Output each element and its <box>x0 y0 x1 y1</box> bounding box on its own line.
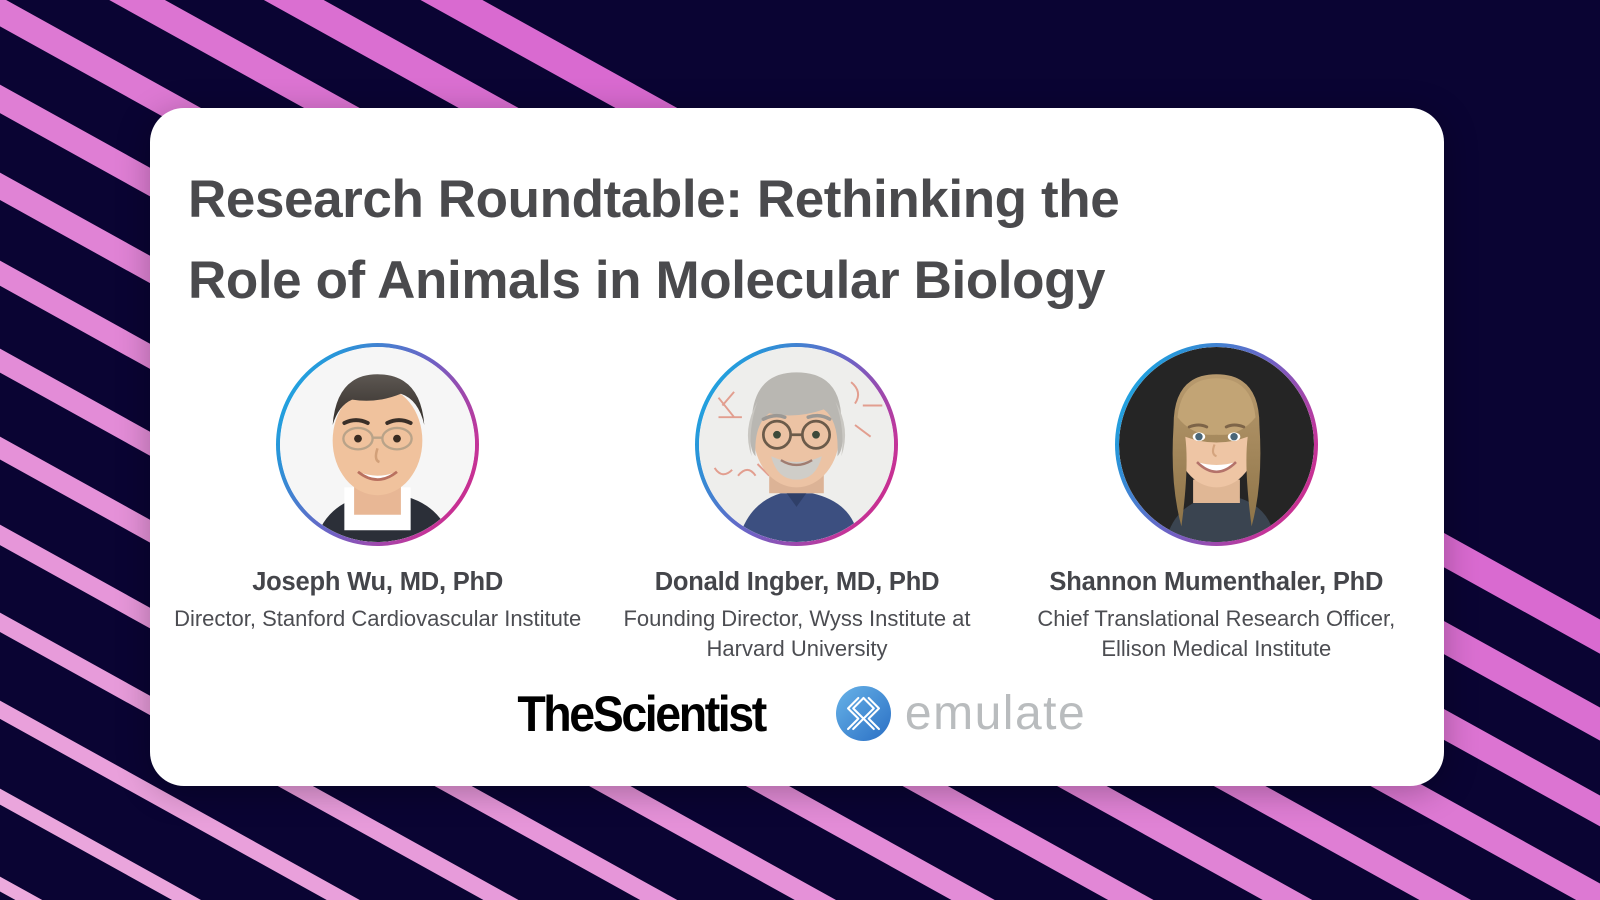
speaker-name: Donald Ingber, MD, PhD <box>655 568 940 597</box>
speaker-role: Chief Translational Research Officer, El… <box>1011 604 1421 665</box>
speaker-name: Shannon Mumenthaler, PhD <box>1049 568 1383 597</box>
emulate-logo: emulate <box>836 686 1086 741</box>
avatar <box>699 347 894 542</box>
speaker-list: Joseph Wu, MD, PhD Director, Stanford Ca… <box>150 343 1444 665</box>
emulate-mark-icon <box>836 686 891 741</box>
speaker-role: Founding Director, Wyss Institute at Har… <box>592 604 1002 665</box>
speaker-role: Director, Stanford Cardiovascular Instit… <box>174 604 581 634</box>
emulate-wordmark: emulate <box>905 686 1086 741</box>
speaker-card: Joseph Wu, MD, PhD Director, Stanford Ca… <box>168 343 587 665</box>
thescientist-logo: TheScientist <box>517 685 764 743</box>
logo-row: TheScientist emulate <box>150 685 1444 743</box>
avatar <box>280 347 475 542</box>
title-line-2: Role of Animals in Molecular Biology <box>188 241 1374 322</box>
title-line-1: Research Roundtable: Rethinking the <box>188 160 1374 241</box>
avatar-ring <box>276 343 479 546</box>
content-card: Research Roundtable: Rethinking the Role… <box>150 108 1444 786</box>
speaker-name: Joseph Wu, MD, PhD <box>252 568 503 597</box>
speaker-card: Donald Ingber, MD, PhD Founding Director… <box>587 343 1006 665</box>
avatar <box>1119 347 1314 542</box>
avatar-ring <box>1115 343 1318 546</box>
speaker-card: Shannon Mumenthaler, PhD Chief Translati… <box>1007 343 1426 665</box>
avatar-ring <box>695 343 898 546</box>
page-title: Research Roundtable: Rethinking the Role… <box>188 160 1374 321</box>
